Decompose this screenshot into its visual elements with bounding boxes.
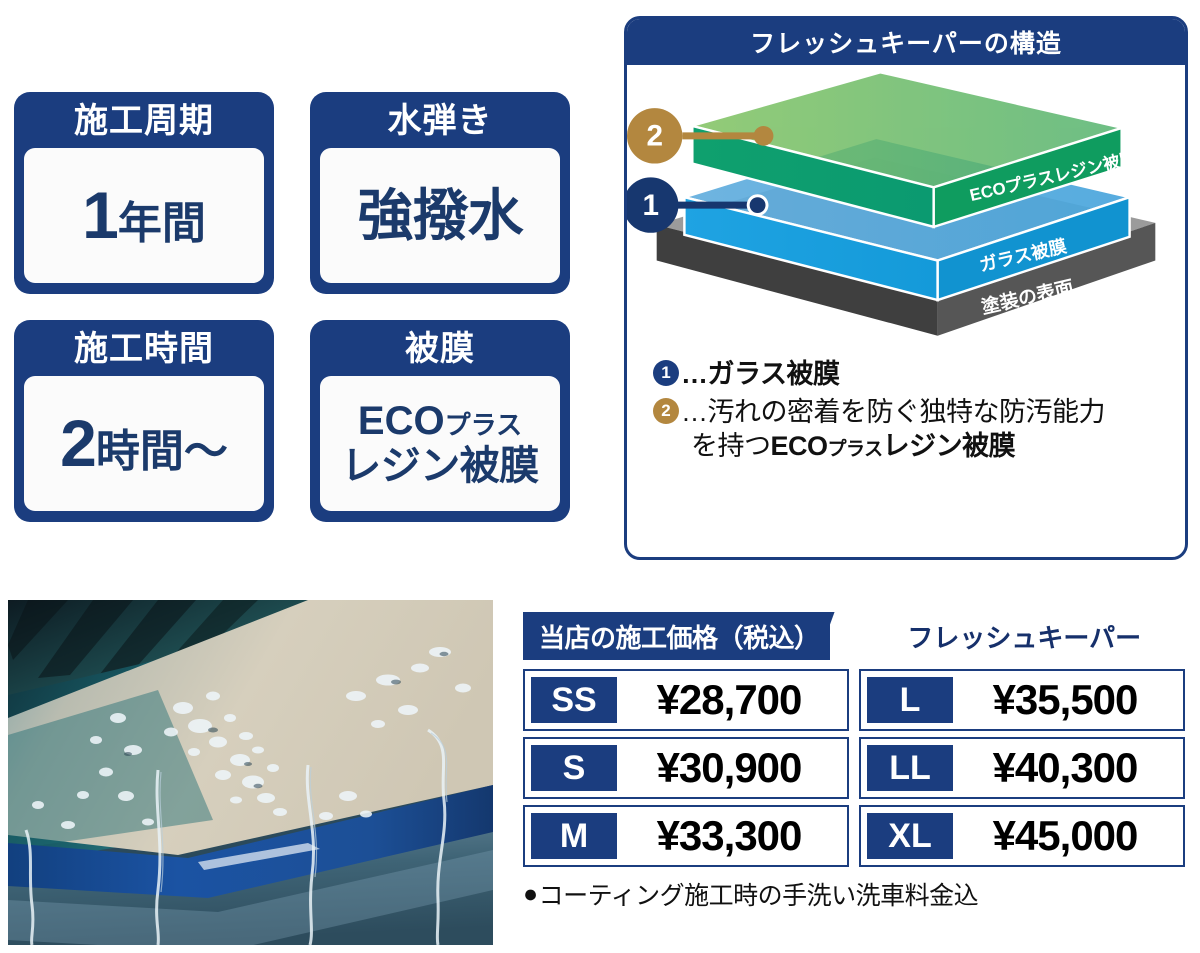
value-plus: プラス bbox=[445, 410, 522, 440]
price-table: 当店の施工価格（税込） フレッシュキーパー SS ¥28,700 S ¥30,9… bbox=[523, 612, 1185, 912]
table-row: LL ¥40,300 bbox=[859, 737, 1185, 799]
bullet-icon: ● bbox=[523, 882, 538, 907]
legend-item-2: 2 …汚れの密着を防ぐ独特な防汚能力 を持つECOプラスレジン被膜 bbox=[653, 395, 1173, 467]
price-grid: SS ¥28,700 S ¥30,900 M ¥33,300 L ¥35,500 bbox=[523, 669, 1185, 867]
feature-card-water-repellency: 水弾き 強撥水 bbox=[310, 92, 570, 294]
legend-text-1: …ガラス被膜 bbox=[681, 357, 839, 391]
legend-badge-1: 1 bbox=[653, 360, 679, 386]
size-badge: LL bbox=[867, 745, 953, 791]
callout-1-number: 1 bbox=[642, 189, 659, 222]
price-value: ¥40,300 bbox=[953, 744, 1177, 792]
table-row: S ¥30,900 bbox=[523, 737, 849, 799]
callout-2-number: 2 bbox=[646, 120, 663, 153]
price-header-label: 当店の施工価格（税込） bbox=[523, 612, 830, 660]
legend-item-1: 1 …ガラス被膜 bbox=[653, 357, 1173, 391]
feature-card-title: 施工周期 bbox=[74, 100, 214, 142]
price-column-left: SS ¥28,700 S ¥30,900 M ¥33,300 bbox=[523, 669, 849, 867]
legend-line1: 汚れの密着を防ぐ独特な防汚能力 bbox=[708, 397, 1106, 427]
feature-card-value: 2 時間〜 bbox=[24, 376, 264, 511]
value-text: 強撥水 bbox=[358, 186, 523, 246]
price-value: ¥30,900 bbox=[617, 744, 841, 792]
legend-label: ガラス被膜 bbox=[708, 359, 840, 389]
value-number: 1 bbox=[82, 182, 118, 248]
price-value: ¥45,000 bbox=[953, 812, 1177, 860]
price-table-header: 当店の施工価格（税込） フレッシュキーパー bbox=[523, 612, 1185, 660]
feature-card-value: 1 年間 bbox=[24, 148, 264, 283]
size-badge: S bbox=[531, 745, 617, 791]
legend-line2-pre: を持つ bbox=[691, 431, 771, 461]
layer-diagram: 塗装の表面 ガラス被膜 ECOプラスレジン被膜 bbox=[627, 65, 1185, 365]
table-row: M ¥33,300 bbox=[523, 805, 849, 867]
legend-separator: … bbox=[681, 397, 708, 427]
price-column-right: L ¥35,500 LL ¥40,300 XL ¥45,000 bbox=[859, 669, 1185, 867]
size-badge: SS bbox=[531, 677, 617, 723]
price-header-product: フレッシュキーパー bbox=[864, 612, 1185, 660]
feature-card-coating-film: 被膜 ECO プラス レジン被膜 bbox=[310, 320, 570, 522]
feature-card-title: 施工時間 bbox=[74, 328, 214, 370]
infographic-root: 施工周期 1 年間 水弾き 強撥水 施工時間 2 時間〜 bbox=[0, 0, 1200, 953]
value-unit: 時間〜 bbox=[96, 427, 228, 477]
feature-card-value: 強撥水 bbox=[320, 148, 560, 283]
price-note: ● コーティング施工時の手洗い洗車料金込 bbox=[523, 876, 1185, 912]
table-row: XL ¥45,000 bbox=[859, 805, 1185, 867]
price-value: ¥33,300 bbox=[617, 812, 841, 860]
feature-card-value: ECO プラス レジン被膜 bbox=[320, 376, 560, 511]
feature-card-cycle: 施工周期 1 年間 bbox=[14, 92, 274, 294]
size-badge: L bbox=[867, 677, 953, 723]
structure-panel-title: フレッシュキーパーの構造 bbox=[627, 19, 1185, 65]
size-badge: XL bbox=[867, 813, 953, 859]
feature-card-title: 水弾き bbox=[388, 100, 493, 142]
legend-badge-2: 2 bbox=[653, 398, 679, 424]
table-row: L ¥35,500 bbox=[859, 669, 1185, 731]
value-unit: 年間 bbox=[118, 199, 206, 249]
legend-separator: … bbox=[681, 359, 708, 389]
table-row: SS ¥28,700 bbox=[523, 669, 849, 731]
feature-cards-group: 施工周期 1 年間 水弾き 強撥水 施工時間 2 時間〜 bbox=[14, 92, 594, 522]
feature-card-work-time: 施工時間 2 時間〜 bbox=[14, 320, 274, 522]
legend-text-2: …汚れの密着を防ぐ独特な防汚能力 を持つECOプラスレジン被膜 bbox=[681, 395, 1105, 467]
price-value: ¥28,700 bbox=[617, 676, 841, 724]
price-note-text: コーティング施工時の手洗い洗車料金込 bbox=[539, 876, 979, 912]
size-badge: M bbox=[531, 813, 617, 859]
feature-card-title: 被膜 bbox=[405, 328, 475, 370]
legend-line2-post: レジン被膜 bbox=[883, 431, 1016, 461]
value-eco: ECO bbox=[358, 400, 445, 442]
value-number: 2 bbox=[60, 410, 96, 476]
legend-line2-eco: ECO bbox=[771, 431, 828, 461]
structure-legend: 1 …ガラス被膜 2 …汚れの密着を防ぐ独特な防汚能力 を持つECOプラスレジン… bbox=[653, 357, 1173, 471]
legend-line2-plus: プラス bbox=[828, 439, 883, 460]
value-resin: レジン被膜 bbox=[341, 444, 539, 488]
structure-panel: フレッシュキーパーの構造 bbox=[624, 16, 1188, 560]
structure-panel-body: 塗装の表面 ガラス被膜 ECOプラスレジン被膜 bbox=[627, 65, 1185, 557]
price-header-slash bbox=[830, 612, 864, 660]
price-value: ¥35,500 bbox=[953, 676, 1177, 724]
water-beading-car-body-photo bbox=[8, 600, 493, 945]
